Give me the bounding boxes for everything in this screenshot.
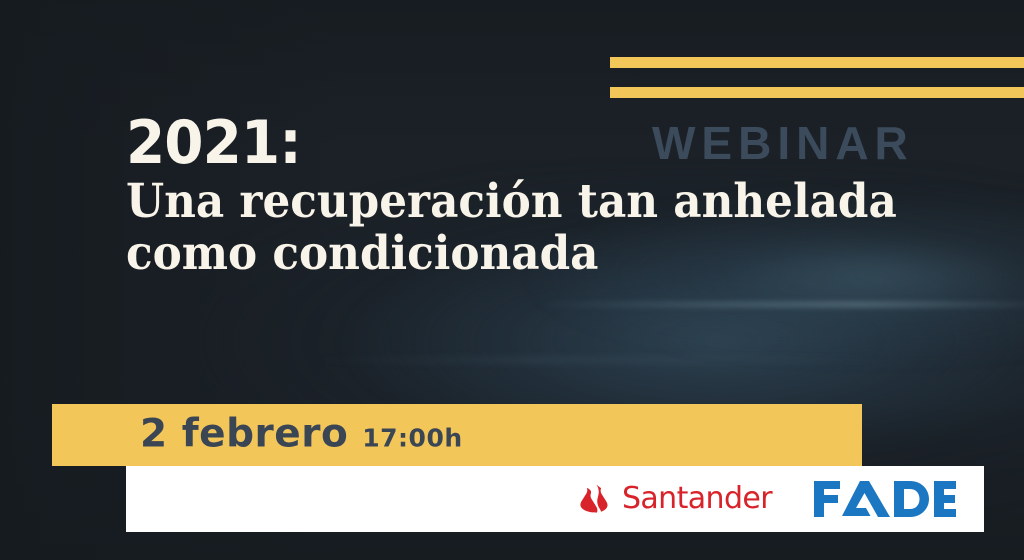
accent-rule-bottom	[610, 87, 1024, 98]
logo-row: Santander	[579, 466, 958, 532]
logo-bar: Santander	[126, 466, 984, 532]
headline-subtitle: Una recuperación tan anhelada como condi…	[126, 176, 907, 278]
date-text-group: 2 febrero 17:00h	[140, 415, 463, 454]
fade-wordmark	[812, 478, 958, 520]
santander-flame-icon	[579, 484, 613, 514]
event-date: 2 febrero	[140, 415, 348, 454]
headline-block: 2021: Una recuperación tan anhelada como…	[126, 112, 966, 279]
event-time: 17:00h	[362, 426, 462, 451]
santander-logo: Santander	[579, 484, 772, 514]
webinar-promo-poster: WEBINAR 2021: Una recuperación tan anhel…	[0, 0, 1024, 560]
fade-logo	[812, 478, 958, 520]
accent-rule-top	[610, 57, 1024, 68]
santander-wordmark: Santander	[622, 484, 772, 514]
headline-year: 2021:	[126, 112, 916, 174]
date-bar: 2 febrero 17:00h	[52, 404, 862, 466]
